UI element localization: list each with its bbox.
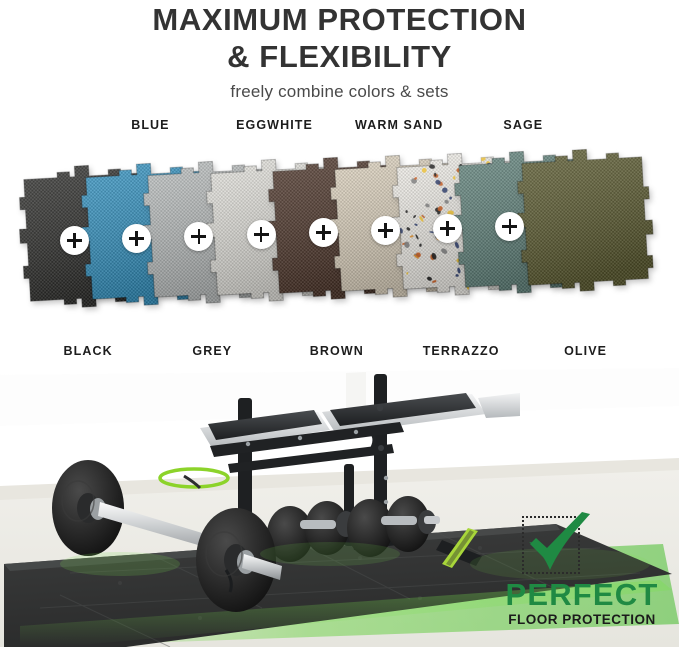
plus-icon [247,220,276,249]
color-label-terrazzo: TERRAZZO [423,344,500,358]
color-label-black: BLACK [64,344,113,358]
badge-title: PERFECT [494,578,670,612]
plus-icon [433,214,462,243]
color-label-grey: GREY [192,344,232,358]
plus-icon [309,218,338,247]
color-label-blue: BLUE [131,118,169,132]
headline-line-2: & FLEXIBILITY [0,39,679,75]
color-label-eggwhite: EGGWHITE [236,118,313,132]
headline-block: MAXIMUM PROTECTION & FLEXIBILITY [0,2,679,75]
plus-icon [122,224,151,253]
plus-icon [371,216,400,245]
color-label-brown: BROWN [310,344,364,358]
perfect-floor-protection-badge: PERFECT FLOOR PROTECTION [494,516,670,642]
tile-surface [508,142,664,300]
color-label-sage: SAGE [503,118,543,132]
badge-subtitle: FLOOR PROTECTION [494,612,670,627]
color-label-warm-sand: WARM SAND [355,118,443,132]
color-swatch-row: BLACKBLUEGREYEGGWHITEBROWNWARM SANDTERRA… [0,118,679,370]
green-checkmark-icon [524,512,596,574]
color-label-olive: OLIVE [564,344,607,358]
headline-subtitle: freely combine colors & sets [0,82,679,102]
headline-line-1: MAXIMUM PROTECTION [0,2,679,38]
color-tile-olive[interactable] [508,142,664,300]
product-marketing-image: MAXIMUM PROTECTION & FLEXIBILITY freely … [0,0,679,647]
plus-icon [60,226,89,255]
